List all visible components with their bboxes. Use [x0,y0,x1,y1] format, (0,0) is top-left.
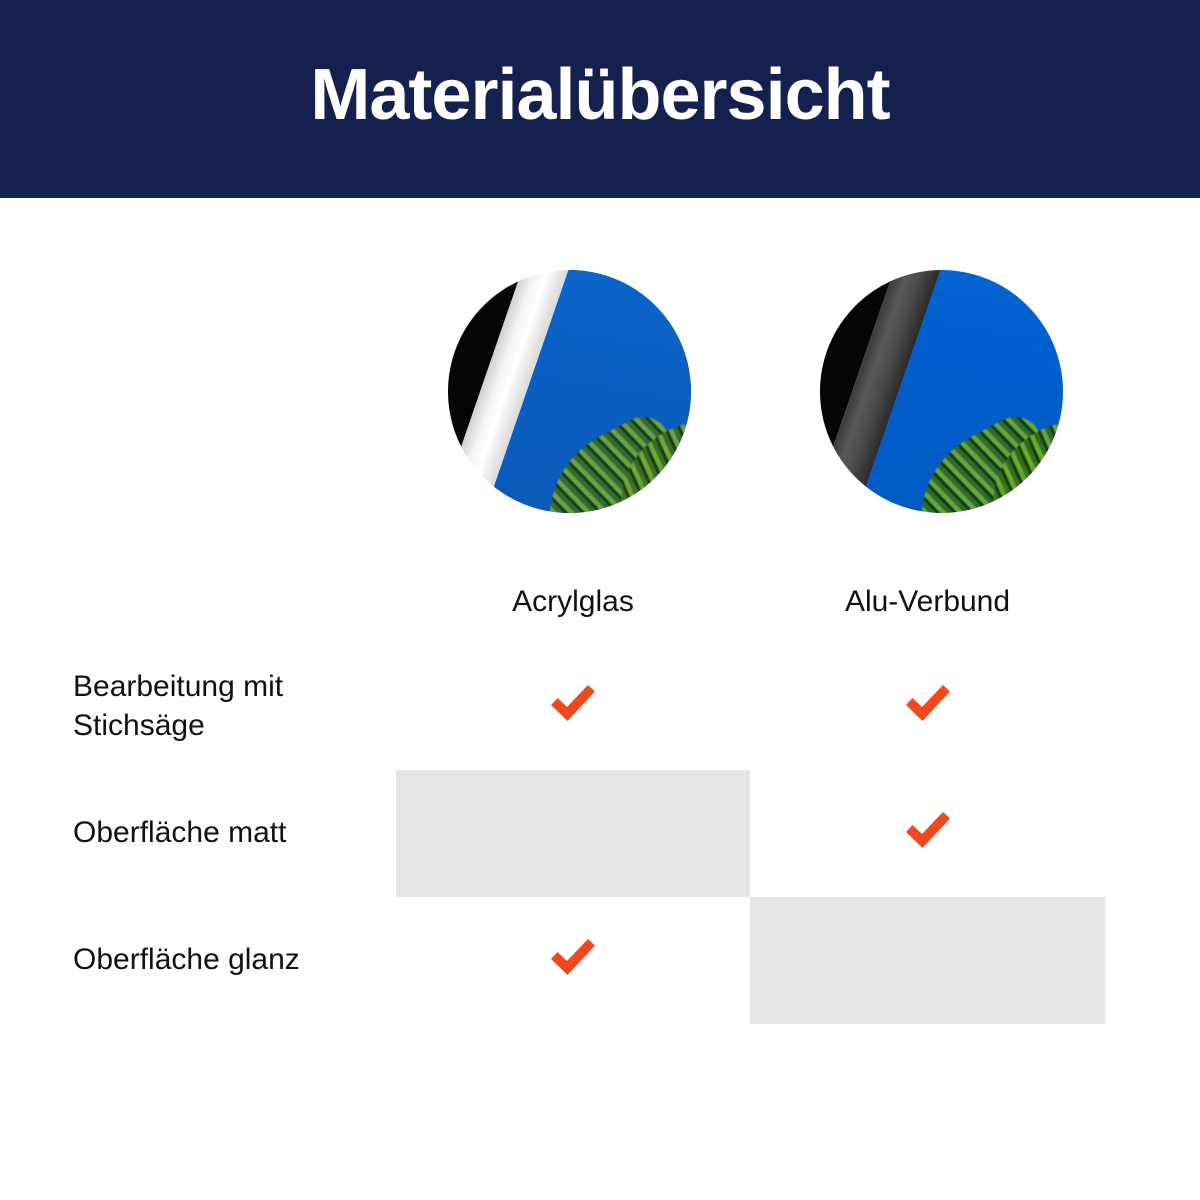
header-cell-empty [73,560,396,643]
row-label-line-1: Bearbeitung mit [73,670,283,703]
cell-glanz-alu-verbund [750,897,1105,1024]
sample-image-alu-verbund [820,270,1063,513]
row-label-line-1: Oberfläche glanz [73,943,300,976]
cell-glanz-acrylglas [396,897,750,1024]
column-header-alu-verbund: Alu-Verbund [750,560,1105,643]
cell-matt-acrylglas [396,770,750,897]
row-label-bearbeitung-stichsaege: Bearbeitung mit Stichsäge [73,643,396,770]
header-banner: Materialübersicht [0,0,1200,198]
cell-bearbeitung-acrylglas [396,643,750,770]
page-title: Materialübersicht [310,59,889,131]
table-row: Oberfläche glanz [73,897,1105,1024]
check-icon [902,805,954,857]
check-icon [547,678,599,730]
row-label-line-1: Oberfläche matt [73,816,286,849]
palm-frond [655,270,691,312]
column-header-acrylglas: Acrylglas [396,560,750,643]
check-icon [902,678,954,730]
alu-verbund-panel-render [820,270,1063,513]
row-label-line-2: Stichsäge [73,709,205,742]
row-label-oberflaeche-glanz: Oberfläche glanz [73,897,396,1024]
check-icon [547,932,599,984]
table-row: Bearbeitung mit Stichsäge [73,643,1105,770]
table-row: Oberfläche matt [73,770,1105,897]
sample-image-acrylglas [448,270,691,513]
cell-matt-alu-verbund [750,770,1105,897]
cell-bearbeitung-alu-verbund [750,643,1105,770]
table-header-row: Acrylglas Alu-Verbund [73,560,1105,643]
material-comparison-table: Acrylglas Alu-Verbund Bearbeitung mit St… [73,560,1105,1024]
row-label-oberflaeche-matt: Oberfläche matt [73,770,396,897]
acrylglas-panel-render [448,270,691,513]
material-sample-row [0,270,1200,515]
material-overview-page: Materialübersicht [0,0,1200,1200]
palm-frond [1027,270,1063,312]
